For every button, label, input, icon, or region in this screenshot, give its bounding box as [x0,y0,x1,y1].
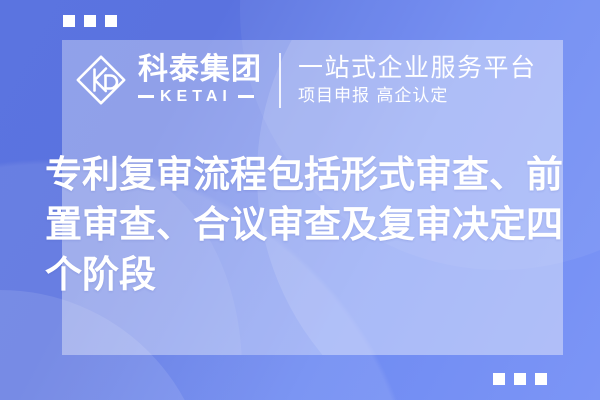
decor-square-2 [514,373,526,385]
brand-name-cn: 科泰集团 [138,55,262,86]
brand-name-en-row: KETAI [138,89,262,105]
tagline-sub: 项目申报 高企认定 [298,85,537,107]
decor-square-1 [63,15,75,27]
brand-divider [279,53,281,108]
decor-square-3 [105,15,117,27]
brand-name-en: KETAI [160,89,232,105]
brand-wordmark: 科泰集团 KETAI [138,55,262,105]
decor-square-1 [493,373,505,385]
page-title: 专利复审流程包括形式审查、前置审查、合议审查及复审决定四个阶段 [45,150,565,300]
dash-right-icon [238,95,254,98]
banner-canvas: 科泰集团 KETAI 一站式企业服务平台 项目申报 高企认定 专利复审流程包括形… [0,0,600,400]
decor-dots-top-left [63,15,117,27]
brand-header: 科泰集团 KETAI 一站式企业服务平台 项目申报 高企认定 [62,40,563,120]
tagline-block: 一站式企业服务平台 项目申报 高企认定 [298,53,537,107]
ketai-logo-icon [74,53,128,107]
decor-square-3 [535,373,547,385]
dash-left-icon [138,95,154,98]
tagline-main: 一站式企业服务平台 [298,53,537,83]
decor-square-2 [84,15,96,27]
decor-dots-bottom-right [493,373,547,385]
